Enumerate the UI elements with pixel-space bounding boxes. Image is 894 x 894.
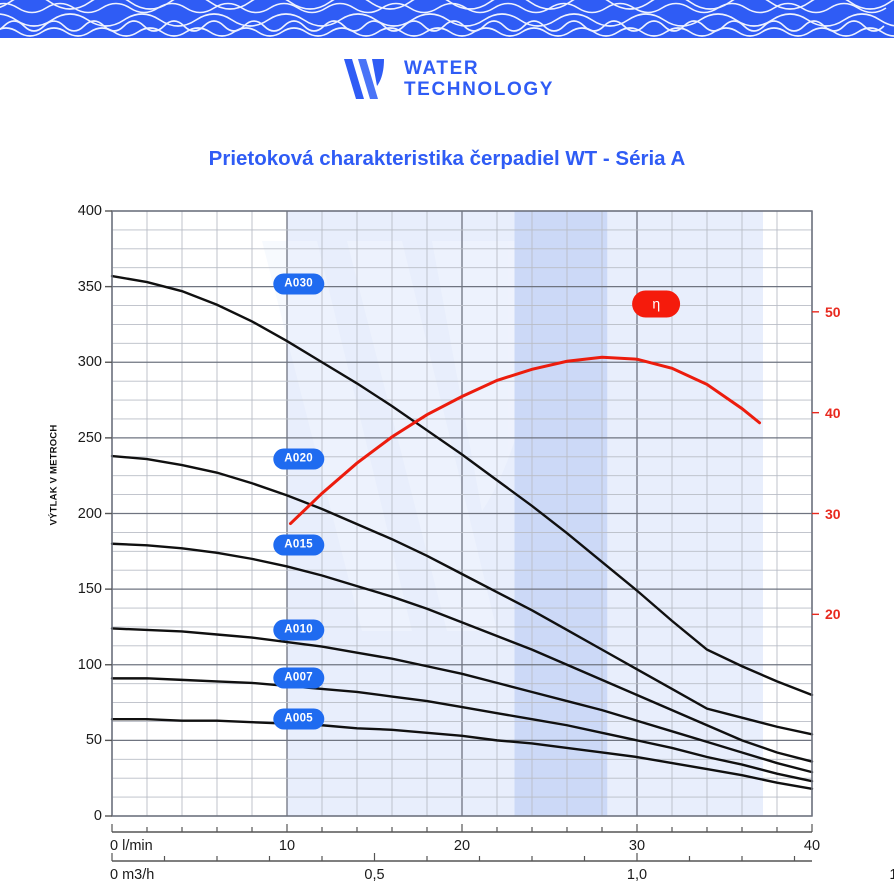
x-tick-label: 40 — [804, 838, 820, 854]
y2-tick-label: 50 — [825, 304, 841, 320]
pump-performance-chart: VÝTLAK V METROCH 05010015020025030035040… — [0, 0, 894, 894]
series-label-A020[interactable]: A020 — [273, 449, 324, 470]
y-tick-label: 250 — [40, 430, 102, 446]
x2-tick-label: 1,0 — [627, 867, 647, 883]
x2-tick-label: 0,5 — [364, 867, 384, 883]
y-tick-label: 350 — [40, 279, 102, 295]
y-tick-label: 100 — [40, 657, 102, 673]
y-tick-label: 0 — [40, 808, 102, 824]
series-label-A005[interactable]: A005 — [273, 709, 324, 730]
y-tick-label: 300 — [40, 354, 102, 370]
chart-plot-svg — [0, 0, 894, 894]
y2-tick-label: 40 — [825, 405, 841, 421]
series-label-A015[interactable]: A015 — [273, 535, 324, 556]
x-tick-label: 20 — [454, 838, 470, 854]
x2-tick-label: 0 m3/h — [110, 867, 154, 883]
y-tick-label: 50 — [40, 732, 102, 748]
series-label-A007[interactable]: A007 — [273, 668, 324, 689]
x2-tick-label: 1,5 — [889, 867, 894, 883]
series-label-A030[interactable]: A030 — [273, 273, 324, 294]
y-tick-label: 150 — [40, 581, 102, 597]
y-tick-label: 400 — [40, 203, 102, 219]
x-tick-label: 0 l/min — [110, 838, 153, 854]
series-label-A010[interactable]: A010 — [273, 619, 324, 640]
x-tick-label: 10 — [279, 838, 295, 854]
y-tick-label: 200 — [40, 506, 102, 522]
y2-tick-label: 30 — [825, 506, 841, 522]
x-tick-label: 30 — [629, 838, 645, 854]
y2-tick-label: 20 — [825, 606, 841, 622]
efficiency-label-eta[interactable]: η — [632, 290, 680, 317]
